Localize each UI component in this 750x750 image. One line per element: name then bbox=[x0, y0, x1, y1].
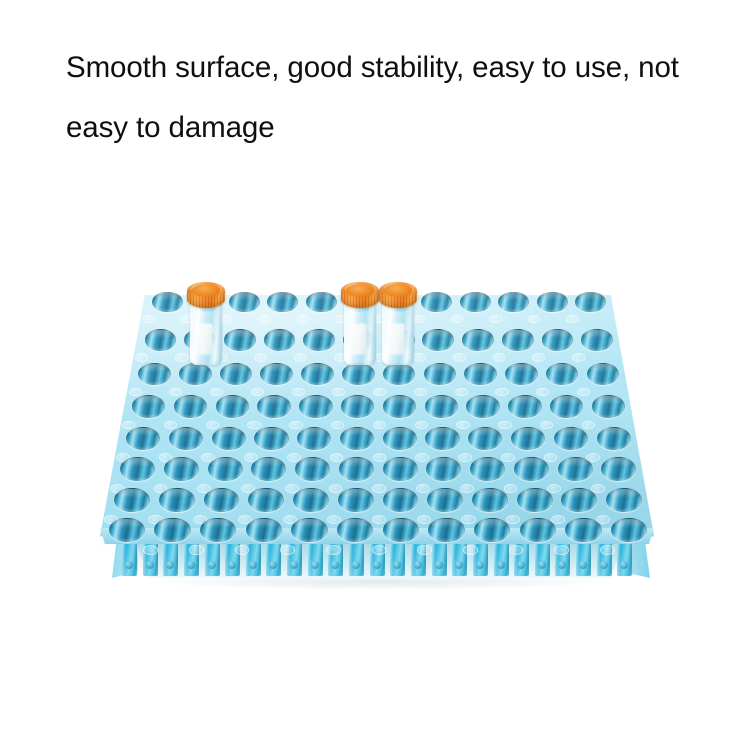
product-illustration bbox=[0, 0, 750, 750]
sample-tube-cap-top bbox=[192, 284, 220, 297]
rack-surface-dimple bbox=[98, 545, 112, 554]
sample-tube-cap-top bbox=[346, 284, 374, 297]
rack-platform bbox=[96, 292, 658, 548]
sample-tube-cap-top bbox=[384, 284, 412, 297]
rack-front-lip bbox=[97, 528, 657, 544]
product-image-page: Smooth surface, good stability, easy to … bbox=[0, 0, 750, 750]
